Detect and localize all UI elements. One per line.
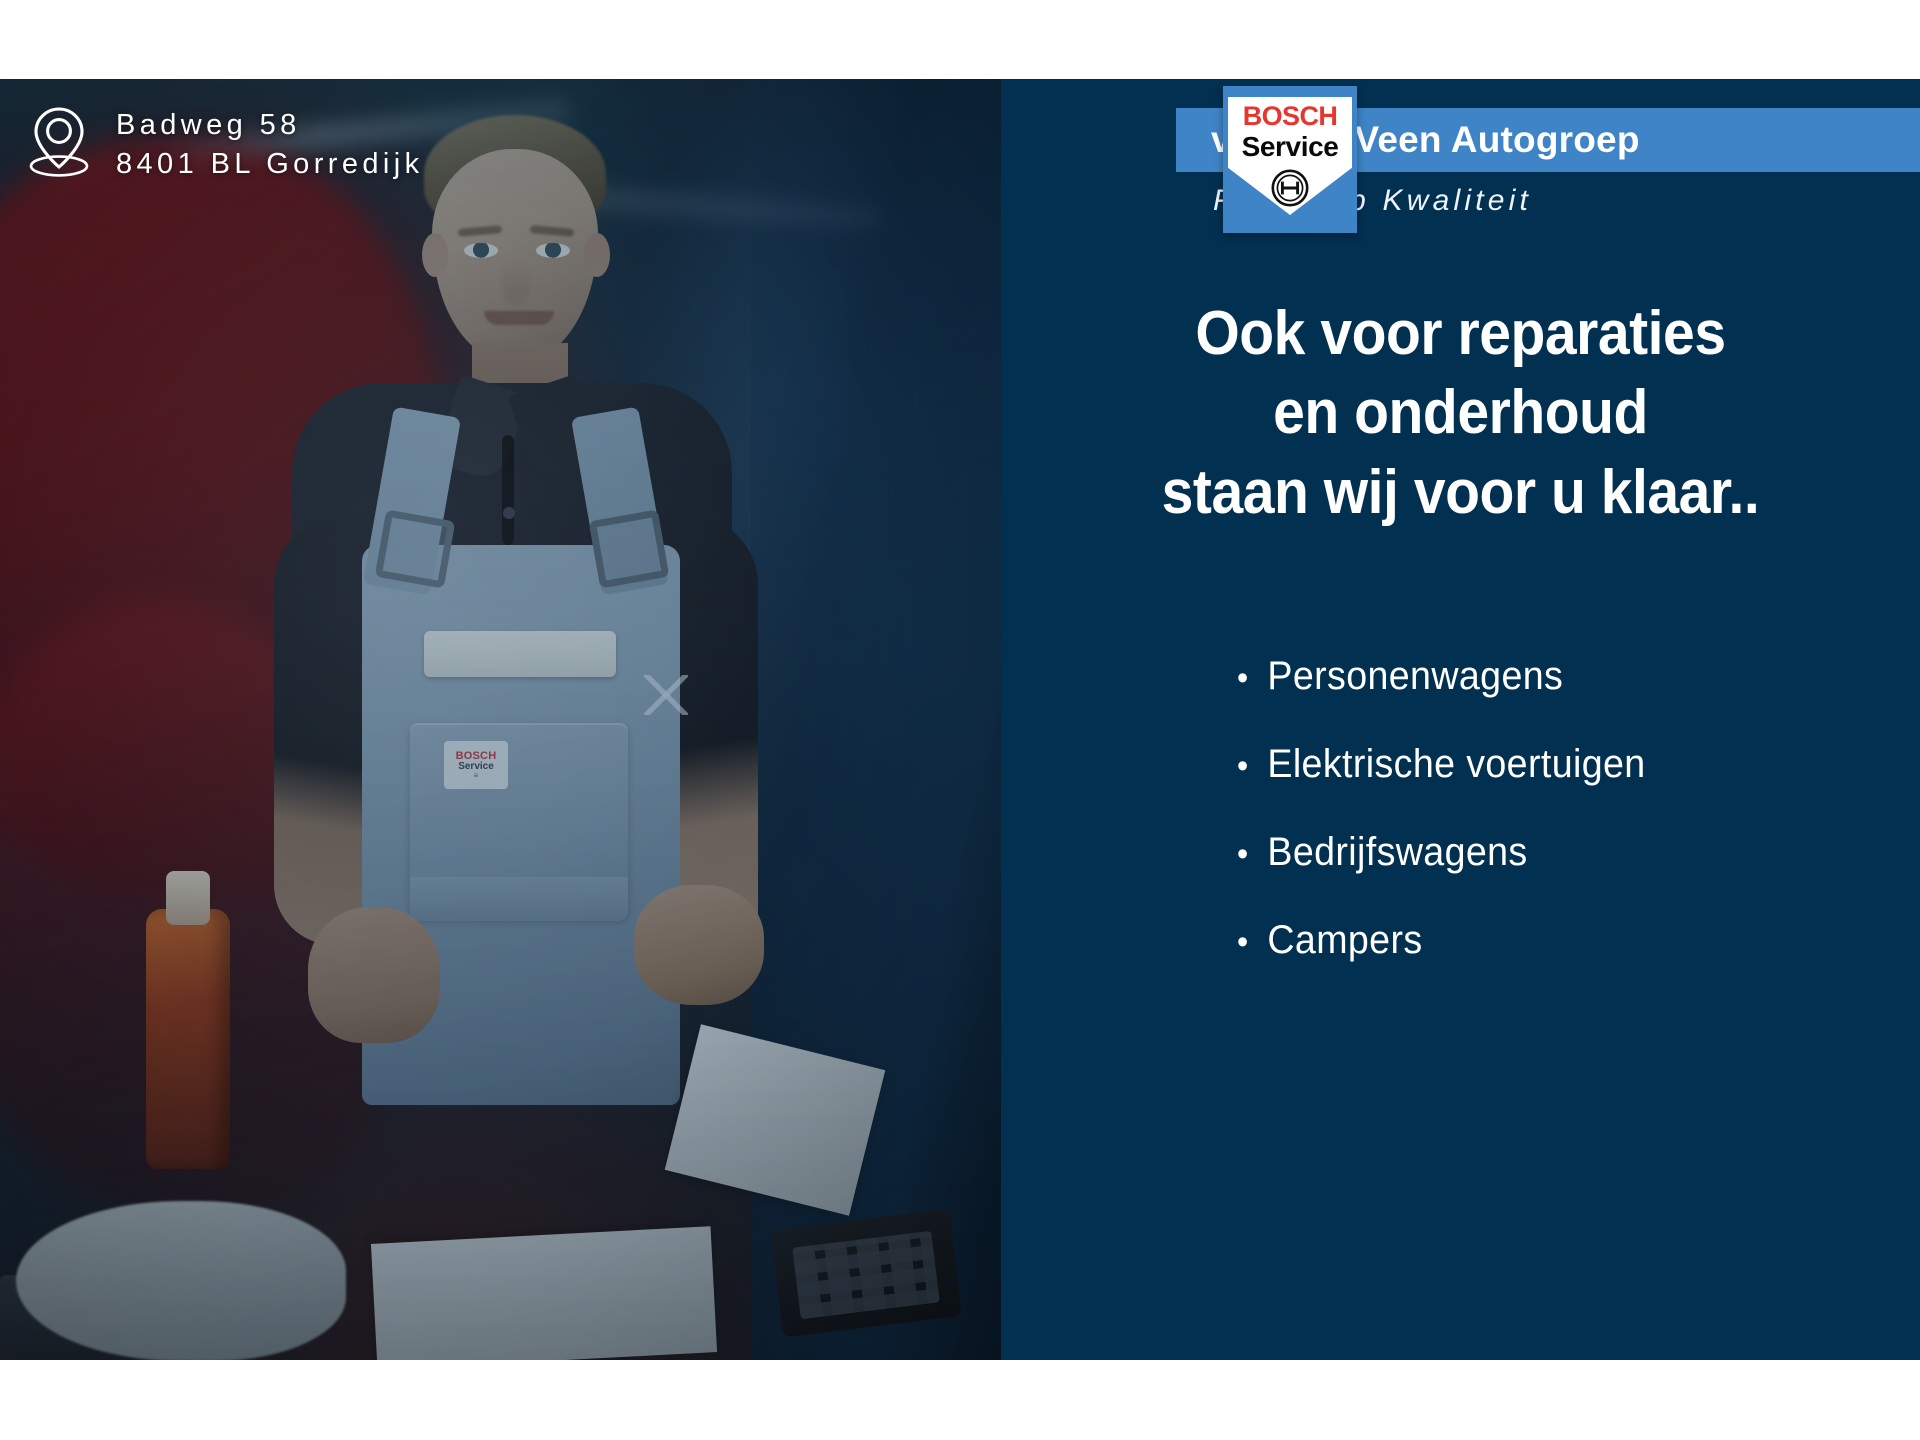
mechanic-eye-right — [536, 243, 570, 258]
info-panel: BOSCH Service van der Veen Autogroep Foc… — [1001, 79, 1920, 1360]
list-item-label: Personenwagens — [1267, 654, 1563, 699]
overall-buckle-right — [589, 509, 670, 588]
headline-line-2: en onderhoud — [1038, 373, 1883, 452]
headline-line-3: staan wij voor u klaar.. — [1038, 453, 1883, 532]
mechanic-smile — [484, 311, 554, 325]
logo-service-wordmark: Service — [1223, 131, 1357, 163]
polo-placket — [502, 435, 514, 545]
logo-bosch-wordmark: BOSCH — [1223, 101, 1357, 132]
overall-name-label — [424, 631, 616, 677]
services-list: • Personenwagens • Elektrische voertuige… — [1237, 654, 1672, 1006]
list-item: • Campers — [1237, 918, 1646, 963]
address-lines: Badweg 58 8401 BL Gorredijk — [116, 109, 423, 181]
mechanic-figure: BOSCH Service ≡ — [196, 115, 816, 1360]
overall-buckle-left — [375, 509, 456, 588]
slide-root: BOSCH Service ≡ — [0, 0, 1920, 1440]
patch-symbol: ≡ — [474, 772, 479, 780]
mechanic-hand-right — [634, 885, 764, 1005]
list-item: • Personenwagens — [1237, 654, 1646, 699]
bosch-service-logo: BOSCH Service — [1223, 86, 1357, 233]
shirt-embroidered-logo — [644, 675, 688, 715]
bullet-icon: • — [1237, 837, 1249, 871]
list-item-label: Elektrische voertuigen — [1267, 742, 1645, 787]
patch-bosch-word: BOSCH — [456, 751, 497, 762]
map-pin-icon — [28, 105, 90, 184]
list-item: • Bedrijfswagens — [1237, 830, 1646, 875]
bullet-icon: • — [1237, 661, 1249, 695]
list-item-label: Campers — [1267, 918, 1422, 963]
bosch-armature-icon — [1270, 168, 1310, 213]
list-item: • Elektrische voertuigen — [1237, 742, 1646, 787]
list-item-label: Bedrijfswagens — [1267, 830, 1527, 875]
bosch-service-shirt-patch: BOSCH Service ≡ — [444, 741, 508, 789]
content-band: BOSCH Service ≡ — [0, 79, 1920, 1360]
mechanic-ear-right — [584, 233, 610, 277]
address-postal-city: 8401 BL Gorredijk — [116, 148, 423, 181]
mechanic-nose — [502, 261, 530, 305]
mechanic-eye-left — [464, 243, 498, 258]
overall-pocket-flap — [410, 877, 628, 921]
mechanic-hand-left — [308, 907, 440, 1043]
headline: Ook voor reparaties en onderhoud staan w… — [1001, 294, 1920, 532]
mechanic-ear-left — [422, 233, 448, 277]
polo-button — [503, 507, 515, 519]
headline-line-1: Ook voor reparaties — [1038, 294, 1883, 373]
bullet-icon: • — [1237, 749, 1249, 783]
workshop-photo: BOSCH Service ≡ — [0, 79, 1001, 1360]
bullet-icon: • — [1237, 925, 1249, 959]
address-street: Badweg 58 — [116, 109, 423, 142]
mechanic-head — [432, 149, 598, 361]
address-overlay: Badweg 58 8401 BL Gorredijk — [28, 105, 423, 184]
patch-service-word: Service — [458, 762, 494, 772]
